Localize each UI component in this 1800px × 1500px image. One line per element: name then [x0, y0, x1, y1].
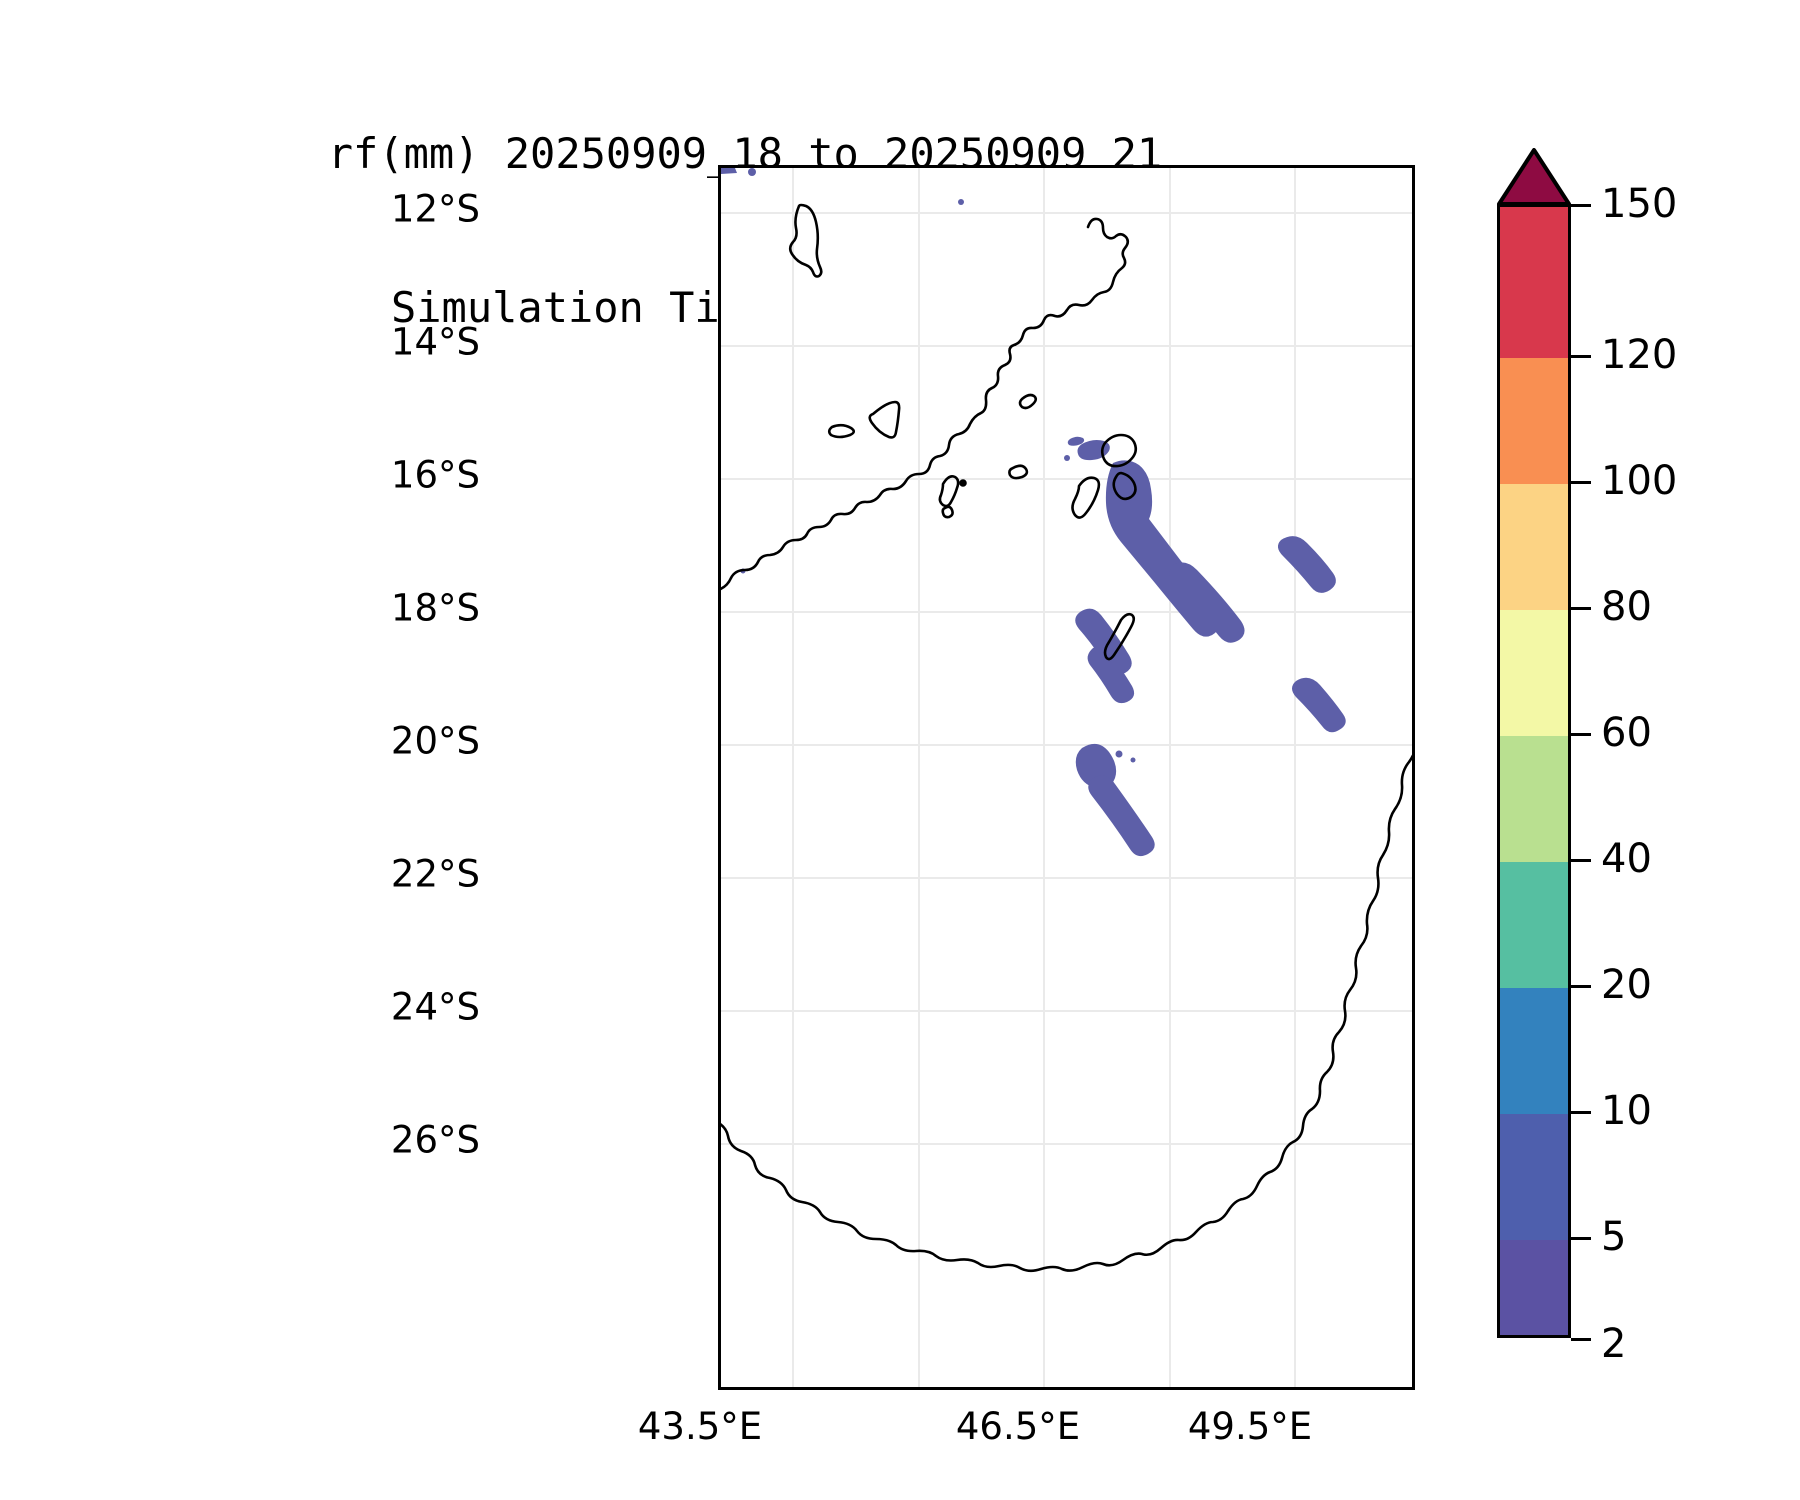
ytick-label: 12°S [391, 188, 480, 231]
ytick-label: 24°S [391, 986, 480, 1029]
ytick-label: 14°S [391, 321, 480, 364]
colorbar-tick [1571, 733, 1591, 736]
colorbar-tick [1571, 355, 1591, 358]
colorbar-tick [1571, 481, 1591, 484]
coastline [721, 205, 1415, 1271]
colorbar-tick-label: 120 [1601, 332, 1677, 378]
colorbar-segment [1500, 358, 1568, 484]
rainfall-shading [721, 168, 1346, 856]
colorbar-gradient [1497, 204, 1571, 1338]
colorbar: 150 120 100 80 60 40 20 10 5 2 [1497, 148, 1797, 1408]
colorbar-tick [1571, 204, 1591, 207]
colorbar-segment [1500, 610, 1568, 736]
ytick-label: 22°S [391, 853, 480, 896]
xtick-label: 49.5°E [1188, 1405, 1312, 1448]
colorbar-tick-label: 40 [1601, 836, 1652, 882]
colorbar-tick-label: 10 [1601, 1088, 1652, 1134]
colorbar-segment [1500, 207, 1568, 358]
ytick-label: 20°S [391, 720, 480, 763]
colorbar-extend-arrow [1497, 148, 1571, 206]
ytick-label: 26°S [391, 1119, 480, 1162]
map-plot-area [718, 165, 1415, 1390]
colorbar-tick-label: 20 [1601, 962, 1652, 1008]
colorbar-tick [1571, 1111, 1591, 1114]
colorbar-tick [1571, 1338, 1591, 1341]
colorbar-segment [1500, 484, 1568, 610]
xtick-label: 43.5°E [638, 1405, 762, 1448]
colorbar-tick [1571, 607, 1591, 610]
colorbar-tick-label: 100 [1601, 458, 1677, 504]
ytick-label: 16°S [391, 454, 480, 497]
colorbar-tick-label: 60 [1601, 710, 1652, 756]
ytick-label: 18°S [391, 587, 480, 630]
colorbar-segment [1500, 988, 1568, 1114]
colorbar-segment [1500, 1240, 1568, 1338]
colorbar-tick [1571, 1237, 1591, 1240]
colorbar-tick [1571, 985, 1591, 988]
colorbar-tick-label: 150 [1601, 181, 1677, 227]
colorbar-tick-label: 80 [1601, 584, 1652, 630]
colorbar-segment [1500, 862, 1568, 988]
coastline-and-rainfall-layer [721, 168, 1415, 1390]
colorbar-tick-label: 2 [1601, 1321, 1626, 1367]
colorbar-tick-label: 5 [1601, 1214, 1626, 1260]
xtick-label: 46.5°E [956, 1405, 1080, 1448]
colorbar-segment [1500, 1114, 1568, 1240]
colorbar-segment [1500, 736, 1568, 862]
colorbar-tick [1571, 859, 1591, 862]
